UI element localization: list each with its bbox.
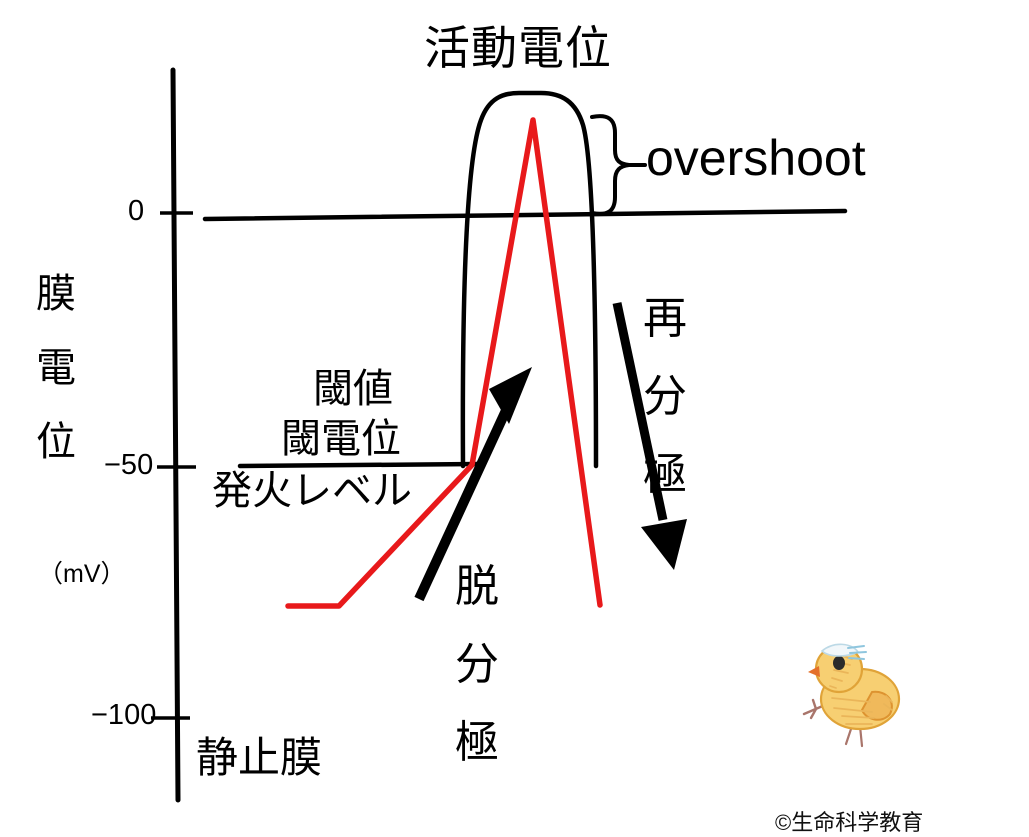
- repolarization-label: 再 分 極: [643, 282, 687, 502]
- chick-body-icon: [808, 644, 899, 729]
- y-axis-unit-label: （mV）: [38, 562, 126, 587]
- depolarization-char-3: 極: [455, 706, 499, 770]
- overshoot-label: overshoot: [646, 133, 866, 183]
- threshold-label: 閾値: [313, 369, 393, 409]
- firing-level-label: 発火レベル: [212, 471, 412, 511]
- chart-title: 活動電位: [424, 25, 612, 71]
- depolarization-label: 脱 分 極: [455, 550, 499, 770]
- figure-canvas: 膜 電 位 （mV） 0 −50 −100 活動電位 overshoot 閾値 …: [0, 0, 1029, 837]
- threshold-potential-label: 閾電位: [281, 419, 401, 459]
- y-tick-label-minus-50: −50: [104, 451, 153, 480]
- zero-reference-line: [205, 211, 845, 219]
- repolarization-char-2: 分: [643, 360, 687, 424]
- y-tick-label-0: 0: [128, 197, 144, 226]
- depolarization-char-1: 脱: [455, 550, 499, 614]
- resting-potential-line-1: 静止膜: [196, 733, 322, 783]
- y-axis-title: 膜 電 位: [36, 274, 76, 462]
- resting-membrane-potential-label: 静止膜 電位: [196, 634, 322, 837]
- depolarization-char-2: 分: [455, 628, 499, 692]
- y-axis-line: [173, 70, 178, 800]
- y-axis-title-char-2: 電: [36, 348, 76, 388]
- overshoot-brace: [592, 116, 629, 214]
- repolarization-char-1: 再: [643, 282, 687, 346]
- copyright-credit: ©生命科学教育 シェアリンググループ: [775, 753, 993, 837]
- repolarization-char-3: 極: [643, 438, 687, 502]
- threshold-reference-line: [240, 464, 478, 466]
- credit-line-1: ©生命科学教育: [775, 809, 993, 837]
- y-tick-label-minus-100: −100: [91, 701, 156, 730]
- y-axis-title-char-3: 位: [36, 422, 76, 462]
- y-axis-title-char-1: 膜: [36, 274, 76, 314]
- chick-logo: [786, 626, 926, 754]
